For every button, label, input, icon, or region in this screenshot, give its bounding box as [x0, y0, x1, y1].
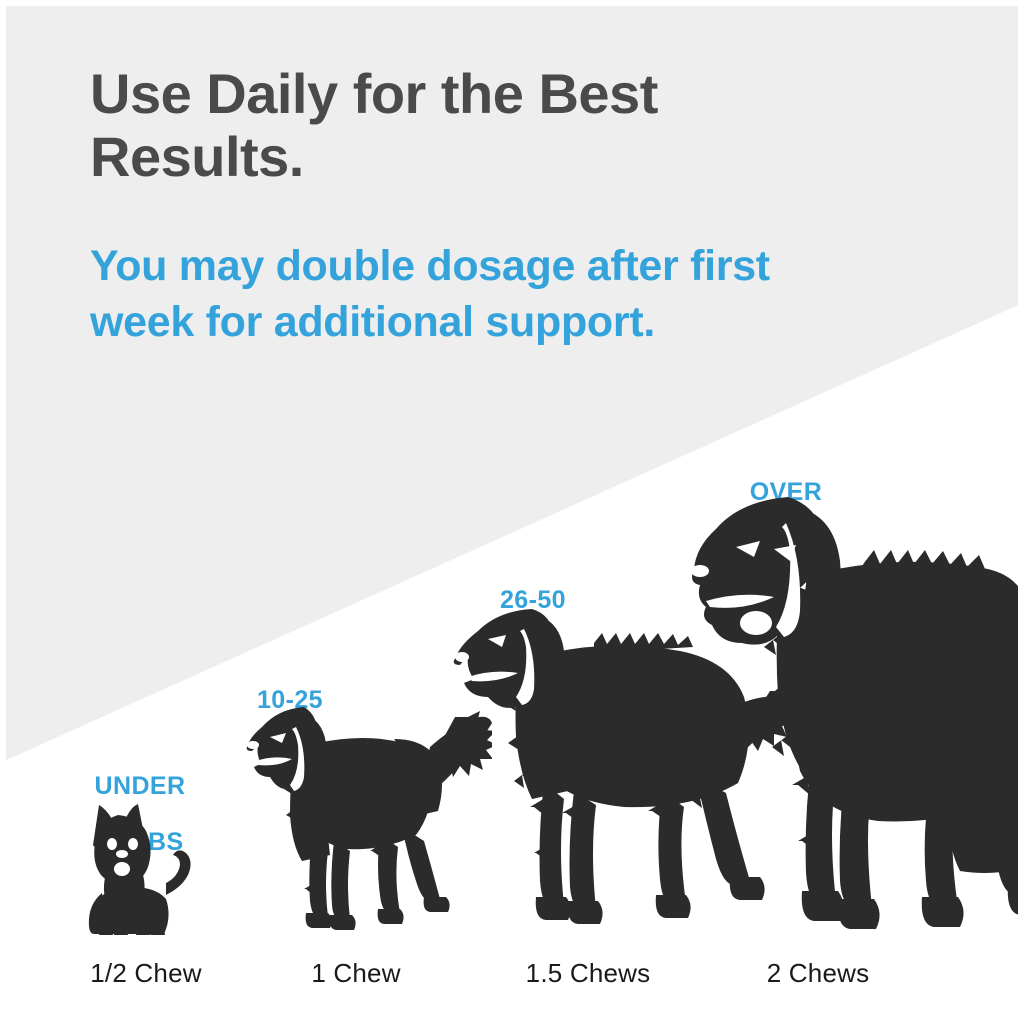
dose-caption-one-and-half-chews: 1.5 Chews: [483, 958, 693, 989]
page-subtitle: You may double dosage after first week f…: [90, 239, 850, 351]
dose-caption-two-chews: 2 Chews: [718, 958, 918, 989]
xlarge-dog-mastiff-silhouette: [678, 485, 1018, 935]
page-title: Use Daily for the Best Results.: [90, 63, 790, 188]
infographic-card: Use Daily for the Best Results. You may …: [6, 6, 1018, 1017]
small-dog-chihuahua-silhouette: [68, 795, 208, 935]
dosage-infographic: Use Daily for the Best Results. You may …: [0, 0, 1024, 1023]
dose-caption-half-chew: 1/2 Chew: [51, 958, 241, 989]
dose-caption-one-chew: 1 Chew: [261, 958, 451, 989]
